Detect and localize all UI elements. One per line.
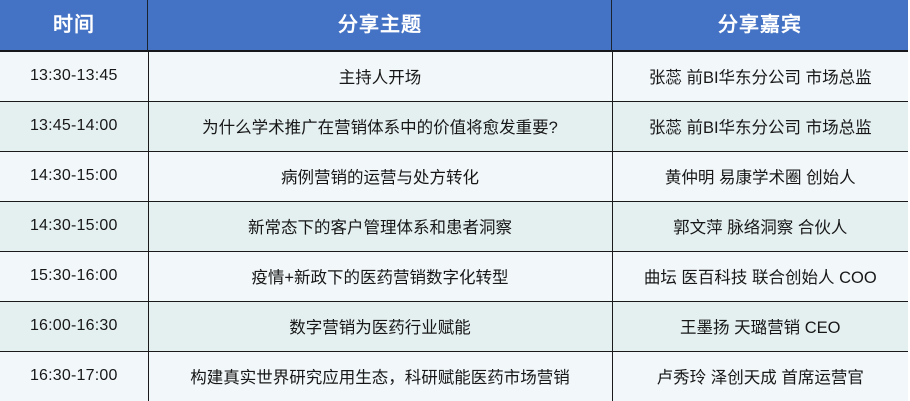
table-header: 时间 分享主题 分享嘉宾 (0, 0, 908, 51)
cell-topic: 新常态下的客户管理体系和患者洞察 (148, 201, 612, 251)
table-row: 15:30-16:00疫情+新政下的医药营销数字化转型曲坛 医百科技 联合创始人… (0, 251, 908, 301)
column-header-topic: 分享主题 (148, 0, 612, 51)
cell-time: 13:45-14:00 (0, 101, 148, 151)
cell-topic: 疫情+新政下的医药营销数字化转型 (148, 251, 612, 301)
agenda-table: 时间 分享主题 分享嘉宾 13:30-13:45主持人开场张蕊 前BI华东分公司… (0, 0, 908, 401)
column-header-guest: 分享嘉宾 (612, 0, 908, 51)
column-header-time: 时间 (0, 0, 148, 51)
cell-topic: 为什么学术推广在营销体系中的价值将愈发重要? (148, 101, 612, 151)
table-row: 16:00-16:30数字营销为医药行业赋能王墨扬 天璐营销 CEO (0, 301, 908, 351)
cell-guest: 郭文萍 脉络洞察 合伙人 (612, 201, 908, 251)
cell-topic: 主持人开场 (148, 51, 612, 101)
cell-guest: 张蕊 前BI华东分公司 市场总监 (612, 101, 908, 151)
cell-time: 15:30-16:00 (0, 251, 148, 301)
table-row: 13:30-13:45主持人开场张蕊 前BI华东分公司 市场总监 (0, 51, 908, 101)
cell-guest: 曲坛 医百科技 联合创始人 COO (612, 251, 908, 301)
cell-time: 14:30-15:00 (0, 201, 148, 251)
table-row: 16:30-17:00构建真实世界研究应用生态，科研赋能医药市场营销卢秀玲 泽创… (0, 351, 908, 401)
table-header-row: 时间 分享主题 分享嘉宾 (0, 0, 908, 51)
cell-guest: 卢秀玲 泽创天成 首席运营官 (612, 351, 908, 401)
cell-time: 16:30-17:00 (0, 351, 148, 401)
table-body: 13:30-13:45主持人开场张蕊 前BI华东分公司 市场总监13:45-14… (0, 51, 908, 401)
cell-guest: 张蕊 前BI华东分公司 市场总监 (612, 51, 908, 101)
table-row: 14:30-15:00病例营销的运营与处方转化黄仲明 易康学术圈 创始人 (0, 151, 908, 201)
cell-guest: 黄仲明 易康学术圈 创始人 (612, 151, 908, 201)
cell-time: 16:00-16:30 (0, 301, 148, 351)
table-row: 13:45-14:00为什么学术推广在营销体系中的价值将愈发重要?张蕊 前BI华… (0, 101, 908, 151)
cell-guest: 王墨扬 天璐营销 CEO (612, 301, 908, 351)
cell-time: 13:30-13:45 (0, 51, 148, 101)
cell-topic: 构建真实世界研究应用生态，科研赋能医药市场营销 (148, 351, 612, 401)
cell-time: 14:30-15:00 (0, 151, 148, 201)
cell-topic: 病例营销的运营与处方转化 (148, 151, 612, 201)
cell-topic: 数字营销为医药行业赋能 (148, 301, 612, 351)
table-row: 14:30-15:00新常态下的客户管理体系和患者洞察郭文萍 脉络洞察 合伙人 (0, 201, 908, 251)
